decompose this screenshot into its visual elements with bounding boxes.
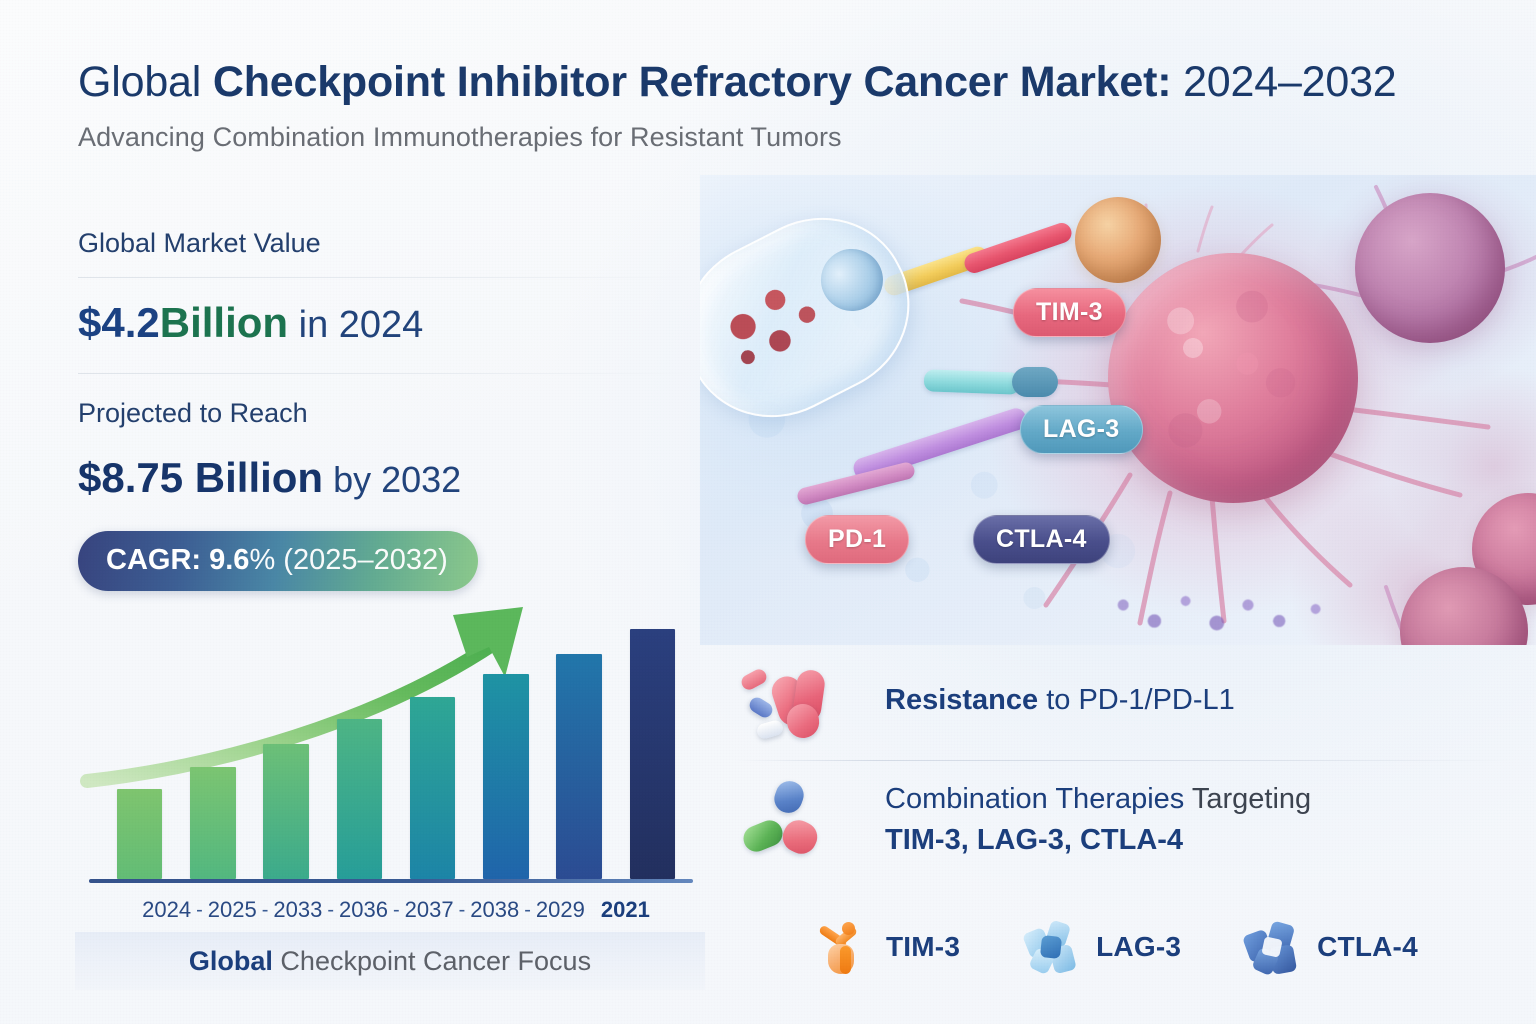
bar-slot bbox=[616, 629, 689, 879]
x-label: 2024 bbox=[140, 897, 193, 923]
pill-label-pd1[interactable]: PD-1 bbox=[805, 515, 909, 564]
immunotherapy-illustration: TIM-3 LAG-3 PD-1 CTLA-4 bbox=[700, 175, 1536, 645]
capsule-shape bbox=[770, 777, 807, 817]
chart-bar bbox=[483, 674, 528, 879]
legend-label-lag3: LAG-3 bbox=[1096, 931, 1181, 963]
label-separator: - bbox=[521, 899, 534, 922]
bar-slot bbox=[469, 629, 542, 879]
chart-footer-text: Global Checkpoint Cancer Focus bbox=[189, 946, 591, 977]
x-label: 2025 bbox=[206, 897, 259, 923]
cagr-value: 9.6 bbox=[209, 544, 249, 576]
tumor-cell-main bbox=[1108, 253, 1358, 503]
chart-x-labels: 2024-2025-2033-2036-2037-2038-20292021 bbox=[103, 897, 689, 923]
bar-slot bbox=[543, 629, 616, 879]
x-label: 2038 bbox=[468, 897, 521, 923]
footer-bold: Global bbox=[189, 946, 273, 976]
chart-axis-line bbox=[89, 879, 693, 883]
pills-red-cluster-icon bbox=[735, 666, 863, 750]
list-item: Resistance to PD-1/PD-L1 bbox=[735, 660, 1515, 760]
bar-series bbox=[103, 629, 689, 879]
chart-bar bbox=[117, 789, 162, 879]
current-year: in 2024 bbox=[288, 304, 423, 346]
pill-shape bbox=[747, 695, 775, 720]
pill-shape bbox=[755, 719, 784, 741]
cagr-percent: % bbox=[249, 544, 275, 576]
bullet-line1-rest: Targeting bbox=[1184, 783, 1311, 815]
title-segment-main: Checkpoint Inhibitor Refractory Cancer M… bbox=[213, 58, 1157, 106]
list-item-text: Resistance to PD-1/PD-L1 bbox=[885, 666, 1235, 719]
stats-divider-2 bbox=[78, 373, 698, 374]
list-item: Combination Therapies Targeting TIM-3, L… bbox=[735, 761, 1515, 873]
bar-slot bbox=[323, 629, 396, 879]
pill-label-tim3[interactable]: TIM-3 bbox=[1013, 288, 1126, 337]
legend-item-ctla4[interactable]: CTLA-4 bbox=[1243, 918, 1418, 976]
bar-slot bbox=[250, 629, 323, 879]
list-item-text: Combination Therapies Targeting TIM-3, L… bbox=[885, 779, 1311, 859]
chart-bar bbox=[410, 697, 455, 880]
chart-bar bbox=[337, 719, 382, 879]
pill-label-ctla4[interactable]: CTLA-4 bbox=[973, 515, 1110, 564]
tim3-figure-icon bbox=[812, 918, 870, 976]
title-segment-years: 2024–2032 bbox=[1183, 58, 1396, 106]
current-market-value: $4.2Billion in 2024 bbox=[78, 300, 698, 347]
chart-bar bbox=[556, 654, 601, 879]
tumor-cell-top-right bbox=[1355, 193, 1505, 343]
chart-footer-bar: Global Checkpoint Cancer Focus bbox=[75, 932, 705, 990]
current-unit: Billion bbox=[160, 299, 288, 346]
x-label: 2033 bbox=[271, 897, 324, 923]
projected-market-value: $8.75 Billion by 2032 bbox=[78, 455, 698, 501]
bullet-line-1: Combination Therapies Targeting bbox=[885, 781, 1311, 818]
chart-bar bbox=[630, 629, 675, 879]
legend-item-tim3[interactable]: TIM-3 bbox=[812, 918, 960, 976]
title-colon: : bbox=[1157, 58, 1183, 106]
cagr-badge: CAGR: 9.6% (2025–2032) bbox=[78, 531, 478, 591]
chart-bar bbox=[263, 744, 308, 879]
page-subtitle: Advancing Combination Immunotherapies fo… bbox=[78, 122, 1498, 153]
chart-bar bbox=[190, 767, 235, 880]
bar-slot bbox=[103, 629, 176, 879]
connector-tube-teal bbox=[924, 369, 1021, 394]
x-label: 2036 bbox=[337, 897, 390, 923]
current-amount: $4.2 bbox=[78, 299, 160, 346]
bar-slot bbox=[176, 629, 249, 879]
pill-label-lag3[interactable]: LAG-3 bbox=[1020, 405, 1143, 454]
legend-item-lag3[interactable]: LAG-3 bbox=[1022, 918, 1181, 976]
lag3-cluster-icon bbox=[1022, 918, 1080, 976]
capsule-shape bbox=[740, 816, 787, 855]
pill-shape bbox=[739, 667, 769, 692]
legend-label-ctla4: CTLA-4 bbox=[1317, 931, 1418, 963]
bullet-bold-text: Resistance bbox=[885, 684, 1038, 716]
projected-label: Projected to Reach bbox=[78, 398, 698, 429]
bullet-line2-bold: TIM-3, LAG-3, CTLA-4 bbox=[885, 824, 1183, 856]
target-legend-row: TIM-3 LAG-3 CTLA-4 bbox=[812, 908, 1512, 986]
header: Global Checkpoint Inhibitor Refractory C… bbox=[78, 58, 1498, 153]
market-value-label: Global Market Value bbox=[78, 228, 698, 259]
capsules-multicolor-icon bbox=[735, 779, 863, 863]
label-separator: - bbox=[259, 899, 272, 922]
stats-panel: Global Market Value $4.2Billion in 2024 … bbox=[78, 228, 698, 591]
bullet-line1-bold: Combination Therapies bbox=[885, 783, 1184, 815]
projected-amount: $8.75 Billion bbox=[78, 454, 323, 501]
bullet-rest-text: to PD-1/PD-L1 bbox=[1038, 684, 1235, 716]
stats-divider-1 bbox=[78, 277, 698, 278]
immune-cell-orange bbox=[1075, 197, 1161, 283]
x-label: 2037 bbox=[403, 897, 456, 923]
projected-year: by 2032 bbox=[323, 459, 461, 500]
infographic-canvas: Global Checkpoint Inhibitor Refractory C… bbox=[0, 0, 1536, 1024]
bar-slot bbox=[396, 629, 469, 879]
capsule-shape bbox=[778, 815, 823, 859]
cagr-period: (2025–2032) bbox=[275, 544, 448, 576]
title-segment-global: Global bbox=[78, 58, 213, 106]
x-label-highlight: 2021 bbox=[599, 897, 652, 923]
connector-cap-teal bbox=[1012, 367, 1058, 397]
legend-label-tim3: TIM-3 bbox=[886, 931, 960, 963]
cagr-prefix: CAGR: bbox=[106, 544, 209, 576]
footer-rest: Checkpoint Cancer Focus bbox=[273, 946, 591, 976]
label-separator: - bbox=[456, 899, 469, 922]
ctla4-cluster-icon bbox=[1243, 918, 1301, 976]
page-title: Global Checkpoint Inhibitor Refractory C… bbox=[78, 58, 1498, 106]
key-findings-list: Resistance to PD-1/PD-L1 Combination The… bbox=[735, 660, 1515, 873]
bullet-line-2: TIM-3, LAG-3, CTLA-4 bbox=[885, 822, 1311, 859]
purple-molecule-debris bbox=[1092, 543, 1352, 643]
label-separator: - bbox=[193, 899, 206, 922]
growth-bar-chart: 2024-2025-2033-2036-2037-2038-20292021 bbox=[75, 585, 705, 895]
x-label: 2029 bbox=[534, 897, 587, 923]
label-separator: - bbox=[390, 899, 403, 922]
label-separator: - bbox=[324, 899, 337, 922]
